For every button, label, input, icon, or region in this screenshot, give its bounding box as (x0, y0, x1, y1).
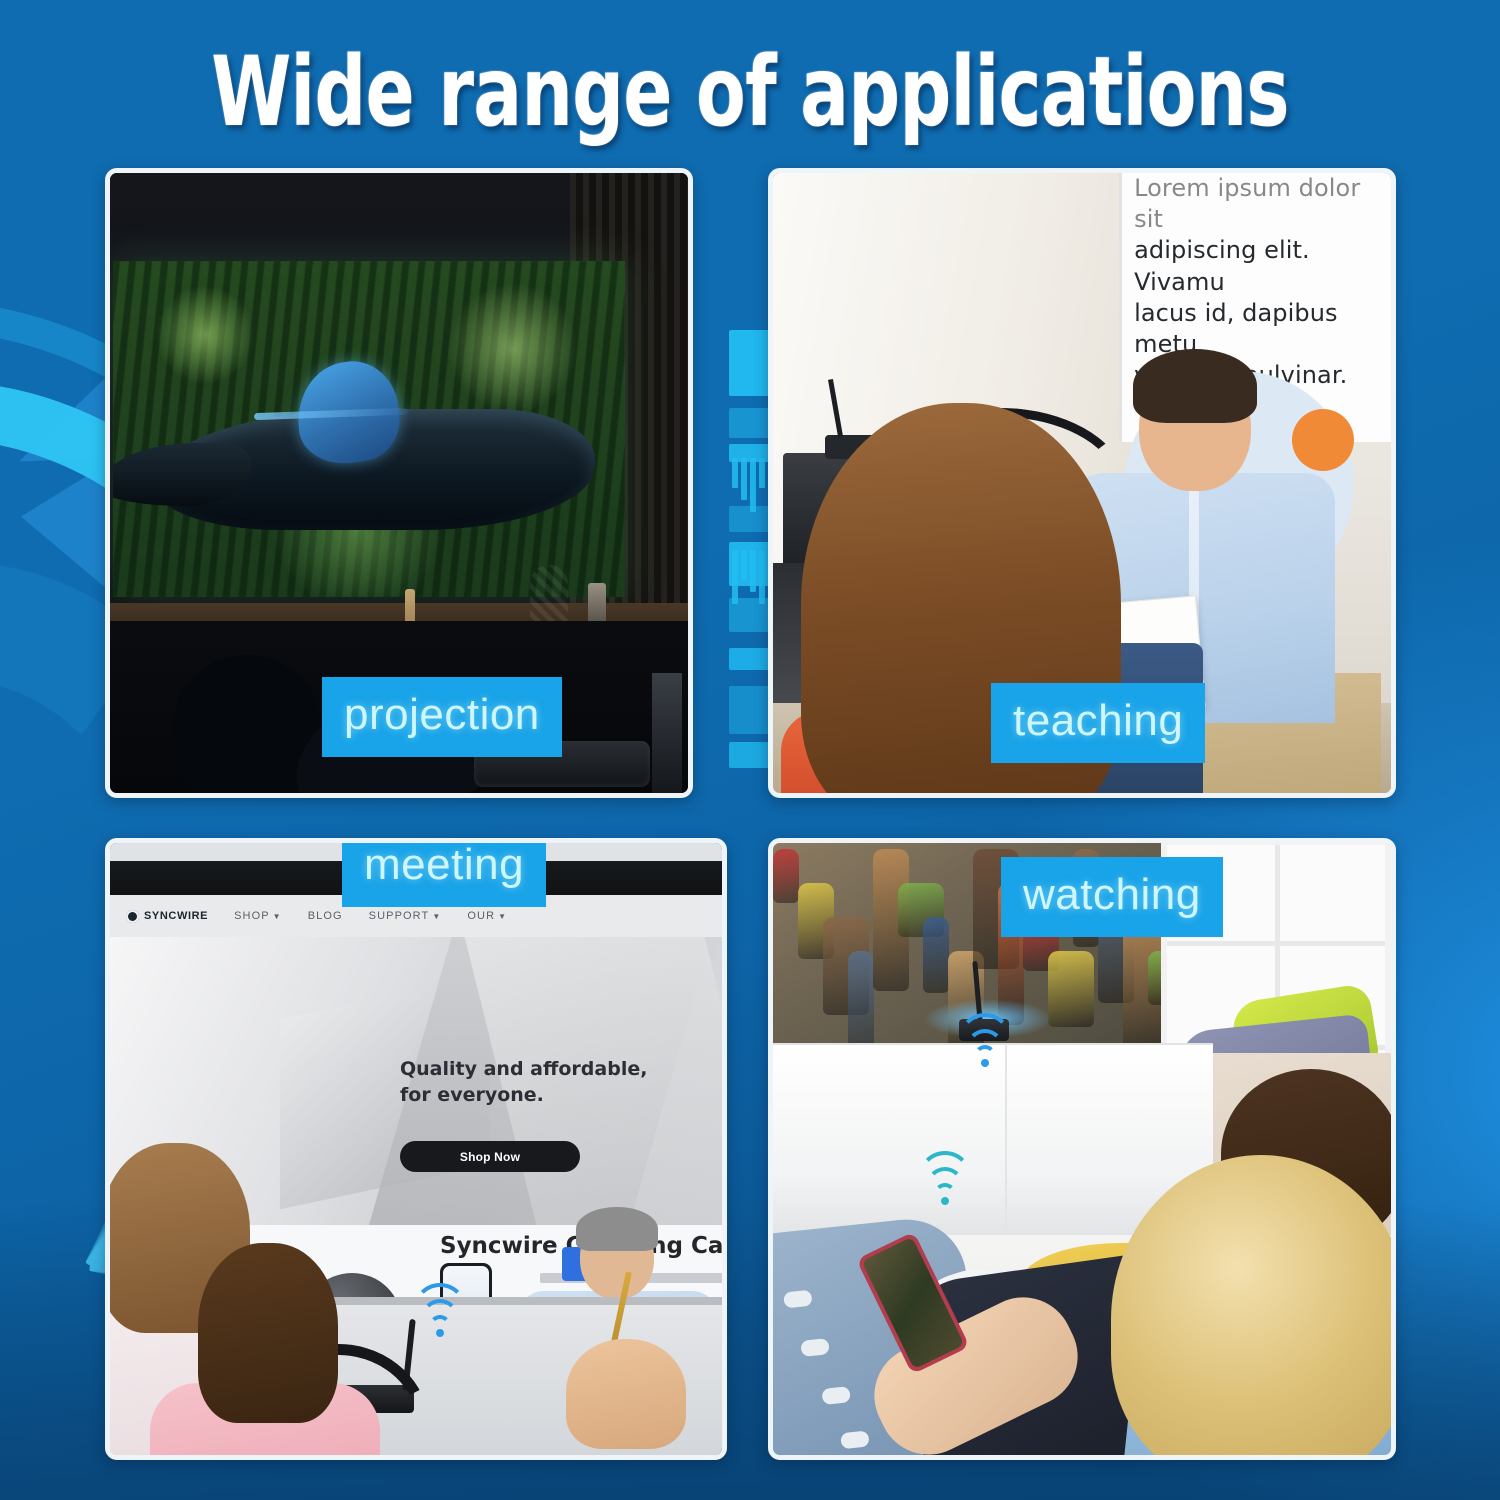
projection-screen (113, 261, 625, 597)
nav-item-support-label: SUPPORT (369, 910, 430, 922)
panel-label-projection: projection (322, 677, 562, 757)
syncwire-logo: SYNCWIRE (126, 910, 208, 923)
panel-watching[interactable]: watching (768, 838, 1396, 1460)
shop-now-button[interactable]: Shop Now (400, 1141, 580, 1172)
nav-item-blog[interactable]: BLOG (308, 910, 343, 922)
panel-label-meeting: meeting (342, 838, 546, 907)
media-cabinet (773, 1043, 1213, 1233)
nav-item-support[interactable]: SUPPORT ▼ (369, 910, 442, 922)
application-panel-grid: projection Lorem ipsum dolor sit adipisc… (0, 0, 1500, 1500)
nav-item-shop-label: SHOP (234, 910, 270, 922)
hero-headline: Quality and affordable, for everyone. (400, 1057, 670, 1108)
logo-mark-icon (126, 910, 139, 923)
nav-item-blog-label: BLOG (308, 910, 343, 922)
chevron-down-icon: ▼ (432, 912, 441, 921)
chevron-down-icon: ▼ (498, 912, 507, 921)
slide-line-1: Lorem ipsum dolor sit (1134, 173, 1377, 235)
panel-projection[interactable]: projection (105, 168, 693, 798)
nav-item-our-label: OUR (467, 910, 495, 922)
slide-line-2: adipiscing elit. Vivamu (1134, 235, 1377, 297)
nav-item-shop[interactable]: SHOP ▼ (234, 910, 282, 922)
meeting-scene-image: SYNCWIRE SHOP ▼ BLOG SUPPORT ▼ OUR (110, 843, 722, 1455)
panel-label-teaching: teaching (991, 683, 1205, 763)
panel-meeting[interactable]: SYNCWIRE SHOP ▼ BLOG SUPPORT ▼ OUR (105, 838, 727, 1460)
panel-label-watching: watching (1001, 857, 1223, 937)
chevron-down-icon: ▼ (273, 912, 282, 921)
nav-item-our[interactable]: OUR ▼ (467, 910, 507, 922)
panel-teaching[interactable]: Lorem ipsum dolor sit adipiscing elit. V… (768, 168, 1396, 798)
logo-text: SYNCWIRE (144, 910, 208, 922)
